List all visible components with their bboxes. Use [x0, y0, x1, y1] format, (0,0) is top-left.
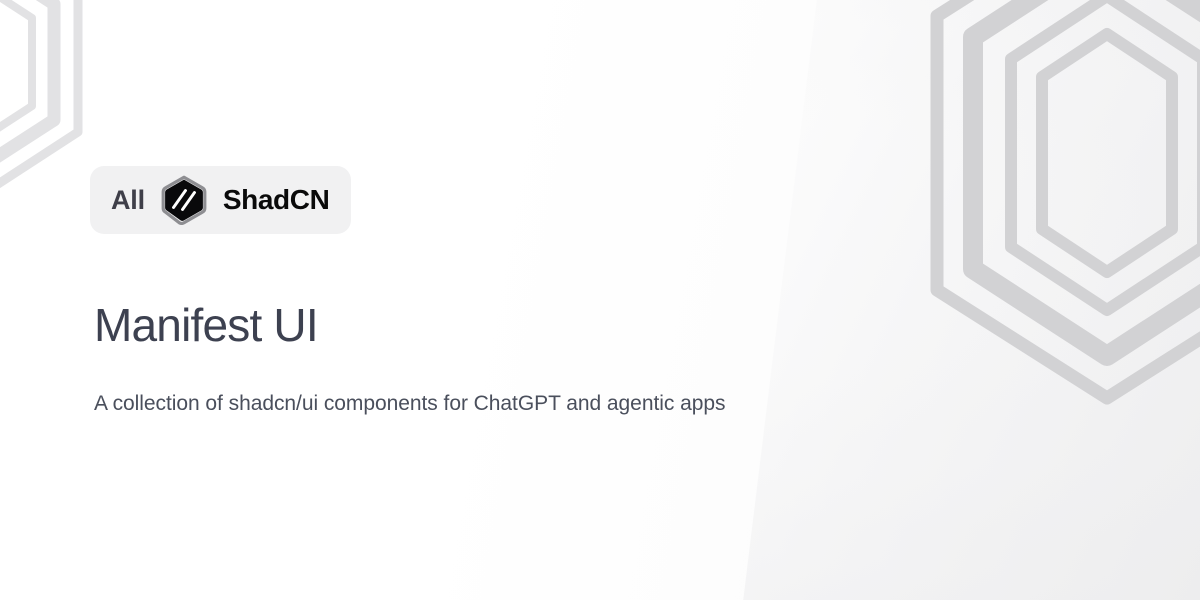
shadcn-badge[interactable]: All ShadCN [90, 166, 351, 234]
og-image-canvas: All ShadCN Manifest UI A collection of s… [0, 0, 1200, 600]
shadcn-hexagon-slash-icon [159, 175, 209, 225]
badge-name-label: ShadCN [223, 186, 330, 214]
badge-prefix-label: All [111, 187, 145, 214]
page-subtitle: A collection of shadcn/ui components for… [94, 385, 834, 422]
content-column: All ShadCN Manifest UI A collection of s… [90, 0, 870, 600]
page-title: Manifest UI [94, 300, 318, 352]
